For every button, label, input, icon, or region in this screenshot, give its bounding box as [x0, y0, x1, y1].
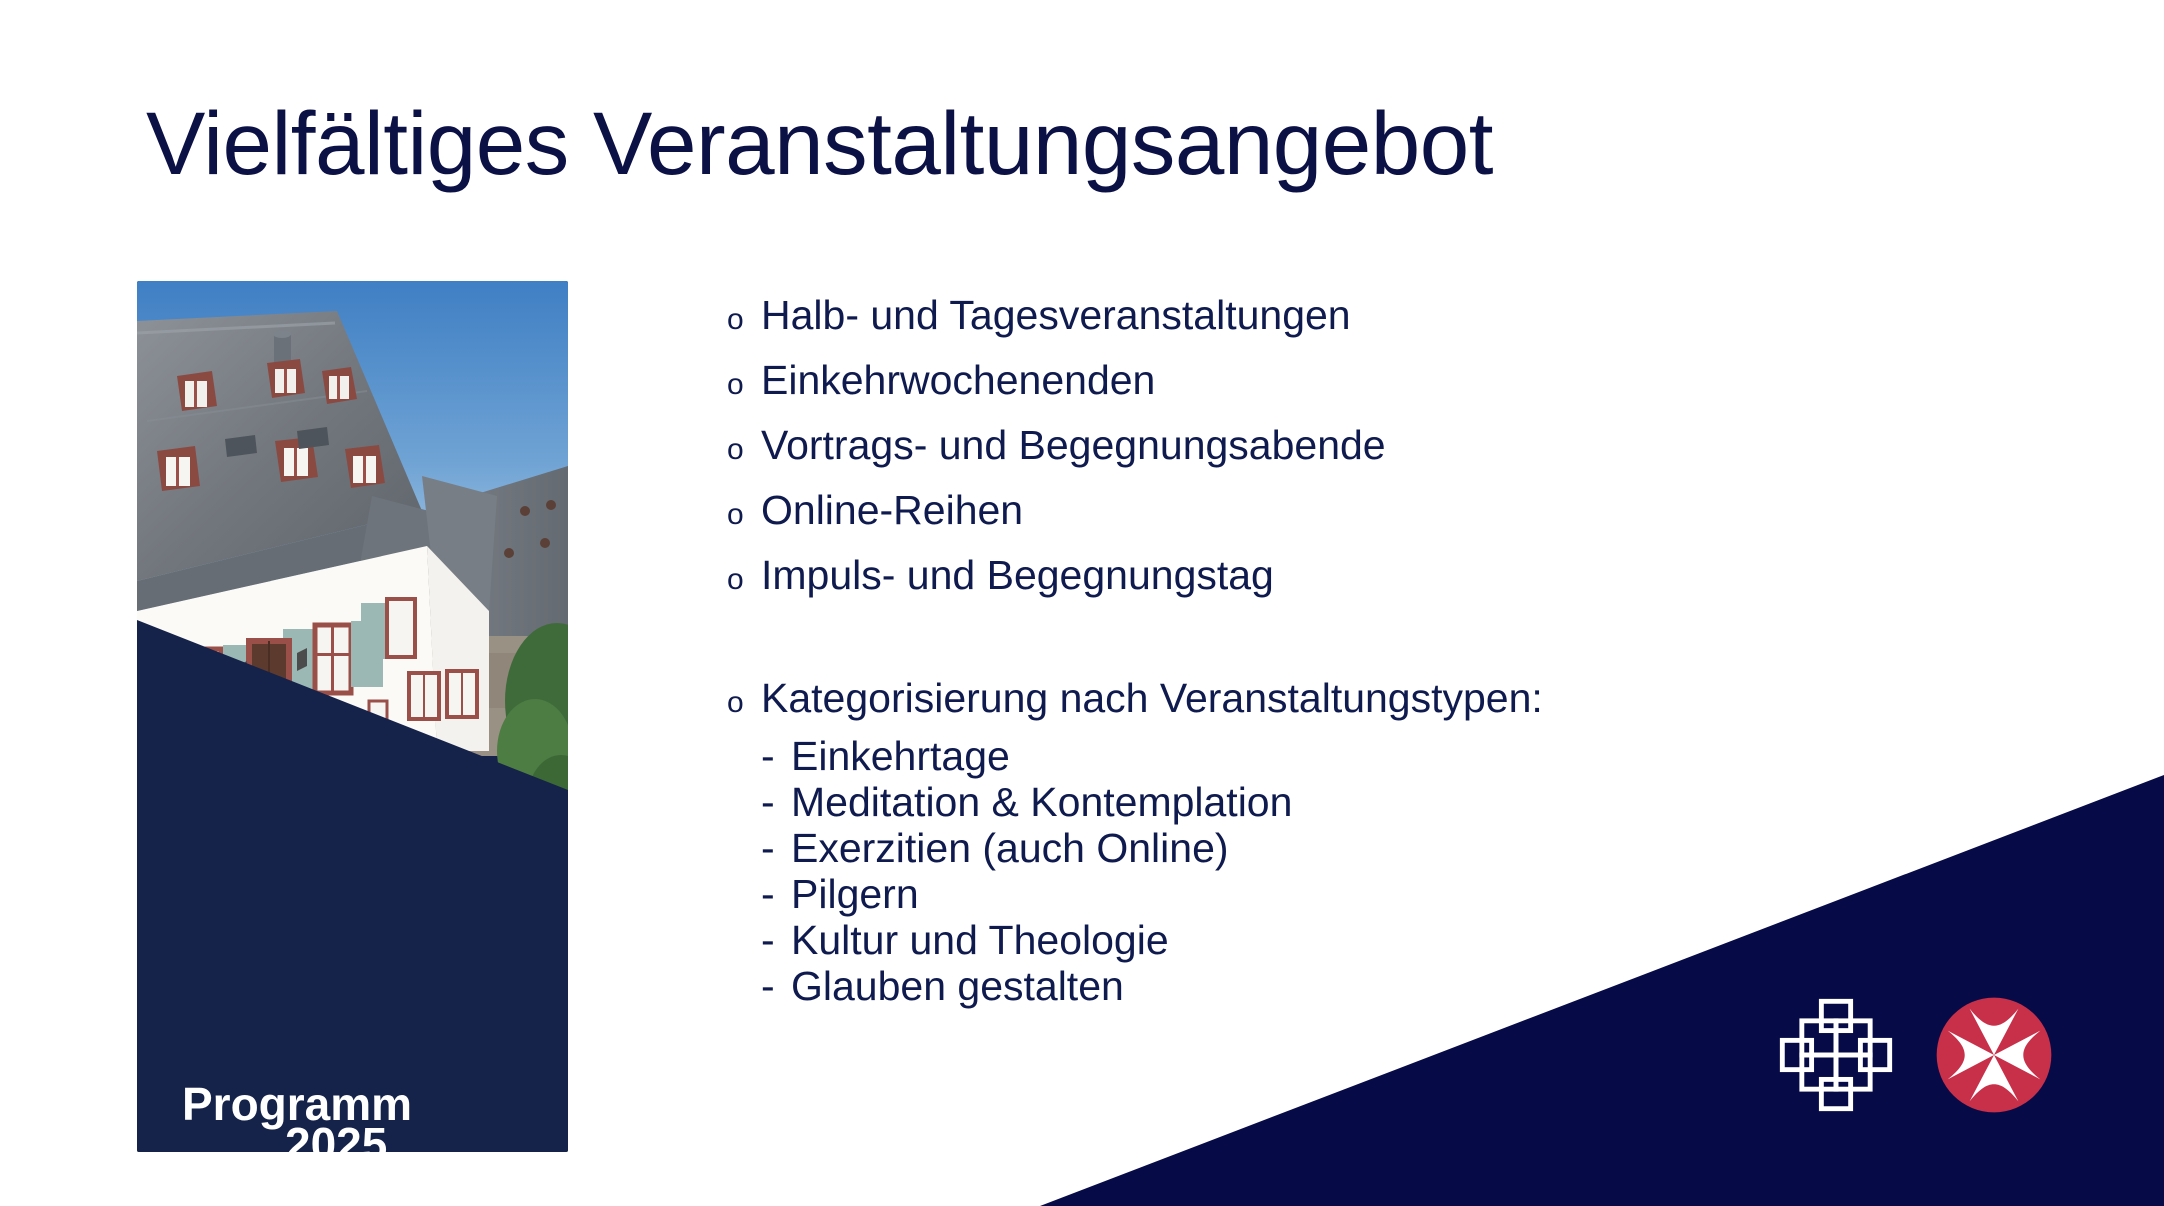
- bullet-circle-icon: o: [727, 420, 761, 480]
- bullet-circle-icon: o: [727, 550, 761, 610]
- list-item-label: Vortrags- und Begegnungsabende: [761, 415, 1386, 475]
- presentation-slide: Vielfältiges Veranstaltungsangebot: [0, 0, 2164, 1206]
- list-item-label: Einkehrwochenenden: [761, 350, 1155, 410]
- dash-icon: -: [761, 733, 791, 779]
- sub-list-item-label: Einkehrtage: [791, 733, 1010, 779]
- dash-icon: -: [761, 779, 791, 825]
- corner-logo-lockup: [1775, 985, 2095, 1125]
- list-item: o Vortrags- und Begegnungsabende: [727, 415, 1997, 480]
- dash-icon: -: [761, 963, 791, 1009]
- sub-list-item-label: Exerzitien (auch Online): [791, 825, 1229, 871]
- list-item: o Kategorisierung nach Veranstaltungstyp…: [727, 668, 1997, 733]
- sub-list-item: - Exerzitien (auch Online): [727, 825, 1997, 871]
- johanniter-square-cross-icon: [1775, 994, 1897, 1116]
- sub-list-item-label: Meditation & Kontemplation: [791, 779, 1292, 825]
- sub-list-item: - Meditation & Kontemplation: [727, 779, 1997, 825]
- brochure-year: 2025: [285, 1121, 387, 1152]
- bullet-list: o Halb- und Tagesveranstaltungen o Einke…: [727, 285, 1997, 1009]
- dash-icon: -: [761, 825, 791, 871]
- sub-list-item-label: Glauben gestalten: [791, 963, 1124, 1009]
- list-item: o Online-Reihen: [727, 480, 1997, 545]
- list-item: o Halb- und Tagesveranstaltungen: [727, 285, 1997, 350]
- list-item-label: Halb- und Tagesveranstaltungen: [761, 285, 1351, 345]
- dash-icon: -: [761, 917, 791, 963]
- list-item: o Einkehrwochenenden: [727, 350, 1997, 415]
- list-item-label: Online-Reihen: [761, 480, 1023, 540]
- sub-list-item: - Kultur und Theologie: [727, 917, 1997, 963]
- sub-list-item: - Pilgern: [727, 871, 1997, 917]
- maltese-cross-red-roundel-icon: [1933, 994, 2055, 1116]
- bullet-circle-icon: o: [727, 355, 761, 415]
- list-item: o Impuls- und Begegnungstag: [727, 545, 1997, 610]
- list-item-label: Impuls- und Begegnungstag: [761, 545, 1274, 605]
- bullet-circle-icon: o: [727, 485, 761, 545]
- list-spacer: [727, 610, 1997, 668]
- list-item-label: Kategorisierung nach Veranstaltungstypen…: [761, 668, 1543, 728]
- sub-list-item-label: Pilgern: [791, 871, 919, 917]
- sub-list-item: - Einkehrtage: [727, 733, 1997, 779]
- sub-list-item-label: Kultur und Theologie: [791, 917, 1169, 963]
- bullet-circle-icon: o: [727, 290, 761, 350]
- brochure-text-block: Programm 2025 Geistliches Zentrum Nieder…: [137, 281, 568, 1152]
- page-title: Vielfältiges Veranstaltungsangebot: [146, 96, 2046, 190]
- dash-icon: -: [761, 871, 791, 917]
- bullet-circle-icon: o: [727, 673, 761, 733]
- brochure-cover-card: Programm 2025 Geistliches Zentrum Nieder…: [137, 281, 568, 1152]
